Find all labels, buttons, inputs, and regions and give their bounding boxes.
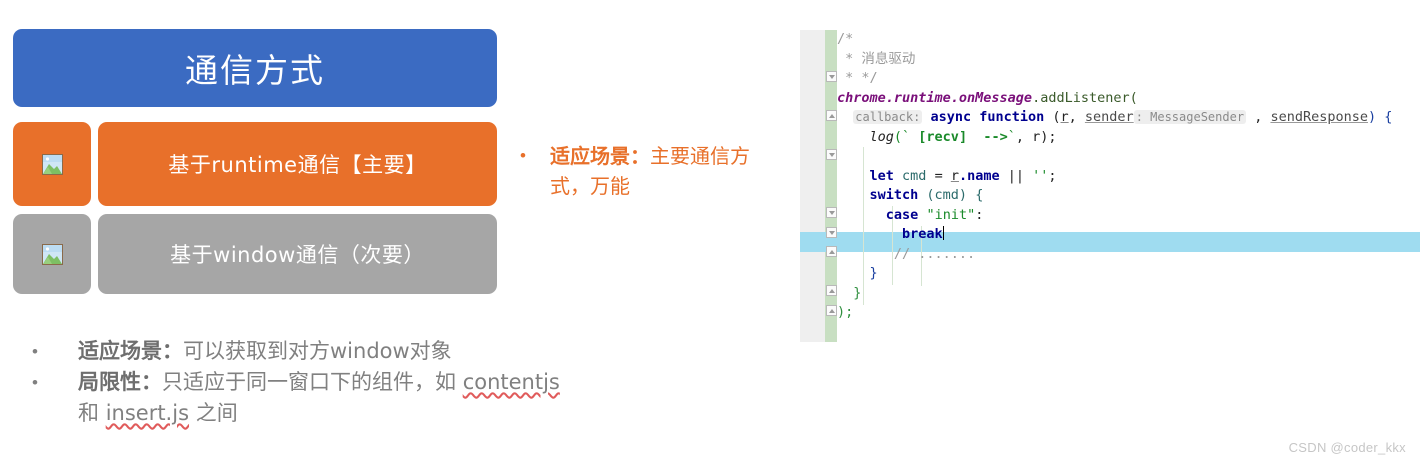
code-line[interactable]: log(` [recv] -->`, r); <box>837 128 1420 148</box>
bullet-marker: • <box>14 336 78 367</box>
slide-pane: 通信方式 基于runtime通信【主要】 <box>0 0 790 463</box>
inlay-hint-type: : MessageSender <box>1134 110 1246 124</box>
code-token-case-value: "init" <box>926 207 975 223</box>
bullet-bold: 局限性： <box>78 370 162 394</box>
code-fold-icon[interactable] <box>826 207 837 218</box>
slide-title-box: 通信方式 <box>13 29 497 107</box>
code-fold-icon[interactable] <box>826 227 837 238</box>
code-token-comma: , <box>1246 109 1270 125</box>
code-token-semicolon: ; <box>1048 168 1056 184</box>
row-icon-box <box>13 214 91 294</box>
orange-note-bold: 适应场景： <box>550 144 650 168</box>
code-token-template-body: [recv] --> <box>910 129 1008 145</box>
code-token-paren: ( <box>1044 109 1060 125</box>
bullet-text: 局限性：只适应于同一窗口下的组件，如 contentjs 和 insert.js… <box>78 367 574 429</box>
code-token-cmd: cmd <box>902 168 926 184</box>
code-line[interactable]: ); <box>837 303 1420 323</box>
code-line[interactable]: } <box>837 284 1420 304</box>
bottom-bullet-list: • 适应场景：可以获取到对方window对象 • 局限性：只适应于同一窗口下的组… <box>14 336 574 429</box>
bullet-text: 适应场景：可以获取到对方window对象 <box>78 336 452 367</box>
code-line[interactable]: case "init": <box>837 206 1420 226</box>
editor-gutter[interactable] <box>800 30 825 342</box>
code-line[interactable]: /* <box>837 30 1420 50</box>
bullet-marker: • <box>512 141 550 201</box>
code-fold-icon[interactable] <box>826 285 837 296</box>
code-line[interactable]: * */ <box>837 69 1420 89</box>
bullet-rest: 可以获取到对方window对象 <box>183 339 452 363</box>
code-editor[interactable]: /* * 消息驱动 * */ chrome.runtime.onMessage.… <box>800 30 1420 342</box>
code-line-active[interactable]: break <box>837 225 1420 245</box>
row-body: 基于runtime通信【主要】 <box>98 122 497 206</box>
code-token-log-args: , r); <box>1016 129 1057 145</box>
code-token-comment: * */ <box>837 70 878 86</box>
code-token-param-sender: sender <box>1085 109 1134 125</box>
code-token-template-close: ` <box>1008 129 1016 145</box>
code-token-comment: /* <box>837 31 853 47</box>
code-token-switch: switch <box>870 187 919 203</box>
code-token-end-call: ); <box>837 304 853 320</box>
code-line[interactable]: * 消息驱动 <box>837 50 1420 70</box>
code-token-case: case <box>886 207 919 223</box>
code-token-close-brace: } <box>870 265 878 281</box>
code-token-param-r: r <box>1061 109 1069 125</box>
list-item[interactable]: 基于window通信（次要） <box>13 214 497 294</box>
bullet-tail: 之间 <box>189 401 238 425</box>
code-line[interactable]: // ....... <box>837 245 1420 265</box>
page-title: 通信方式 <box>185 44 325 92</box>
code-text-area[interactable]: /* * 消息驱动 * */ chrome.runtime.onMessage.… <box>837 30 1420 342</box>
code-token-brace: ) { <box>1368 109 1392 125</box>
watermark: CSDN @coder_kkx <box>1289 440 1406 455</box>
code-token-comment: // ....... <box>894 246 975 262</box>
list-item: • 适应场景：可以获取到对方window对象 <box>14 336 574 367</box>
code-line[interactable]: } <box>837 264 1420 284</box>
code-token-template-open: (` <box>894 129 910 145</box>
code-fold-icon[interactable] <box>826 305 837 316</box>
list-item-label: 基于runtime通信【主要】 <box>168 149 426 179</box>
code-fold-icon[interactable] <box>826 71 837 82</box>
bullet-rest: 只适应于同一窗口下的组件，如 <box>162 370 463 394</box>
orange-note-text: 适应场景：主要通信方式，万能 <box>550 141 784 201</box>
text-caret <box>943 226 945 240</box>
broken-image-icon <box>42 154 63 175</box>
code-token-log: log <box>870 129 894 145</box>
code-line-blank[interactable] <box>837 147 1420 167</box>
code-line[interactable]: switch (cmd) { <box>837 186 1420 206</box>
code-token-let: let <box>870 168 894 184</box>
bullet-marker: • <box>14 367 78 398</box>
code-token-comment: * 消息驱动 <box>837 51 915 67</box>
bullet-mid: 和 <box>78 401 106 425</box>
spellcheck-word: contentjs <box>463 370 560 394</box>
code-token-close-brace: } <box>853 285 861 301</box>
row-icon-box <box>13 122 91 206</box>
code-line[interactable]: chrome.runtime.onMessage.addListener( <box>837 89 1420 109</box>
list-item[interactable]: 基于runtime通信【主要】 <box>13 122 497 206</box>
code-token-or: || <box>1000 168 1033 184</box>
code-line[interactable]: let cmd = r.name || ''; <box>837 167 1420 187</box>
spellcheck-word: insert.js <box>106 401 189 425</box>
code-fold-icon[interactable] <box>826 149 837 160</box>
inlay-hint-callback: callback: <box>853 110 922 124</box>
code-token-name: .name <box>959 168 1000 184</box>
code-token-colon: : <box>975 207 983 223</box>
orange-note: • 适应场景：主要通信方式，万能 <box>512 141 784 201</box>
code-token-param-sendresponse: sendResponse <box>1270 109 1368 125</box>
broken-image-icon <box>42 244 63 265</box>
code-token-chrome-runtime: chrome.runtime.onMessage <box>837 90 1032 106</box>
list-item-label: 基于window通信（次要） <box>170 239 425 269</box>
bullet-bold: 适应场景： <box>78 339 183 363</box>
code-token-assign: = <box>926 168 950 184</box>
code-token-async-function: async function <box>930 109 1044 125</box>
code-line[interactable]: callback: async function (r, sender: Mes… <box>837 108 1420 128</box>
code-token-comma: , <box>1069 109 1085 125</box>
code-token-empty-string: '' <box>1032 168 1048 184</box>
row-body: 基于window通信（次要） <box>98 214 497 294</box>
code-token-r: r <box>951 168 959 184</box>
code-fold-icon[interactable] <box>826 246 837 257</box>
code-token-switch-arg: (cmd) { <box>918 187 983 203</box>
code-fold-icon[interactable] <box>826 110 837 121</box>
code-token-break: break <box>902 226 943 242</box>
code-token-addlistener: .addListener( <box>1032 90 1138 106</box>
list-item: • 局限性：只适应于同一窗口下的组件，如 contentjs 和 insert.… <box>14 367 574 429</box>
